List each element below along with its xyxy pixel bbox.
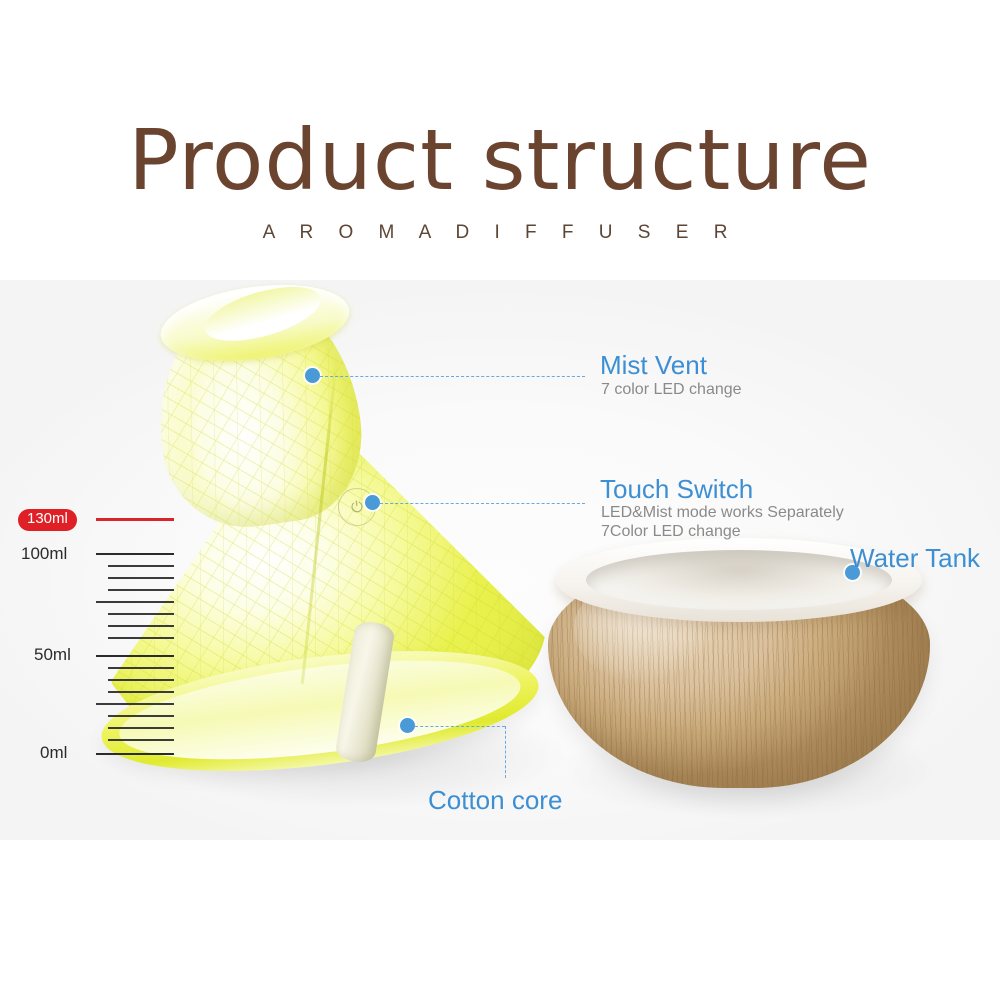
mist-vent-dot xyxy=(305,368,320,383)
scale-tick xyxy=(108,679,174,681)
scale-tick xyxy=(108,589,174,591)
scale-badge-130ml: 130ml xyxy=(18,509,77,531)
scale-tick xyxy=(108,715,174,717)
scale-tick-100 xyxy=(96,553,174,555)
touch-switch-dot xyxy=(365,495,380,510)
cotton-core-title: Cotton core xyxy=(428,785,562,816)
mist-vent-title: Mist Vent xyxy=(600,350,707,381)
scale-tick xyxy=(108,691,174,693)
scale-tick xyxy=(108,625,174,627)
scale-tick xyxy=(108,727,174,729)
mist-vent-leader xyxy=(320,376,585,377)
cotton-core-leader-vertical xyxy=(505,726,506,778)
water-tank-bowl xyxy=(548,538,930,788)
touch-switch-subtitle-line2: 7Color LED change xyxy=(601,521,741,542)
scale-tick xyxy=(108,739,174,741)
scale-tick xyxy=(96,601,174,603)
scale-tick-50 xyxy=(96,655,174,657)
touch-switch-leader xyxy=(380,503,585,504)
mist-vent-subtitle: 7 color LED change xyxy=(601,379,742,400)
scale-tick xyxy=(96,703,174,705)
tank-rim-inner xyxy=(586,550,892,610)
capacity-scale: 130ml 100ml 50ml 0ml xyxy=(8,505,198,775)
scale-tick xyxy=(108,613,174,615)
scale-label-100ml: 100ml xyxy=(21,544,67,564)
cotton-core-leader xyxy=(415,726,505,727)
scale-tick xyxy=(108,667,174,669)
water-tank-title: Water Tank xyxy=(850,543,980,574)
scale-tick xyxy=(108,577,174,579)
scale-label-50ml: 50ml xyxy=(34,645,71,665)
product-structure-image: Product structure A R O M A D I F F U S … xyxy=(0,0,1000,1000)
touch-switch-subtitle-line1: LED&Mist mode works Separately xyxy=(601,502,844,523)
scale-tick xyxy=(108,565,174,567)
cotton-core-dot xyxy=(400,718,415,733)
scale-label-0ml: 0ml xyxy=(40,743,67,763)
scale-tick-130 xyxy=(96,518,174,521)
page-subtitle: A R O M A D I F F U S E R xyxy=(0,222,1000,244)
touch-switch-title: Touch Switch xyxy=(600,474,753,505)
scale-tick xyxy=(108,637,174,639)
page-title: Product structure xyxy=(0,118,1000,202)
scale-tick-0 xyxy=(96,753,174,755)
